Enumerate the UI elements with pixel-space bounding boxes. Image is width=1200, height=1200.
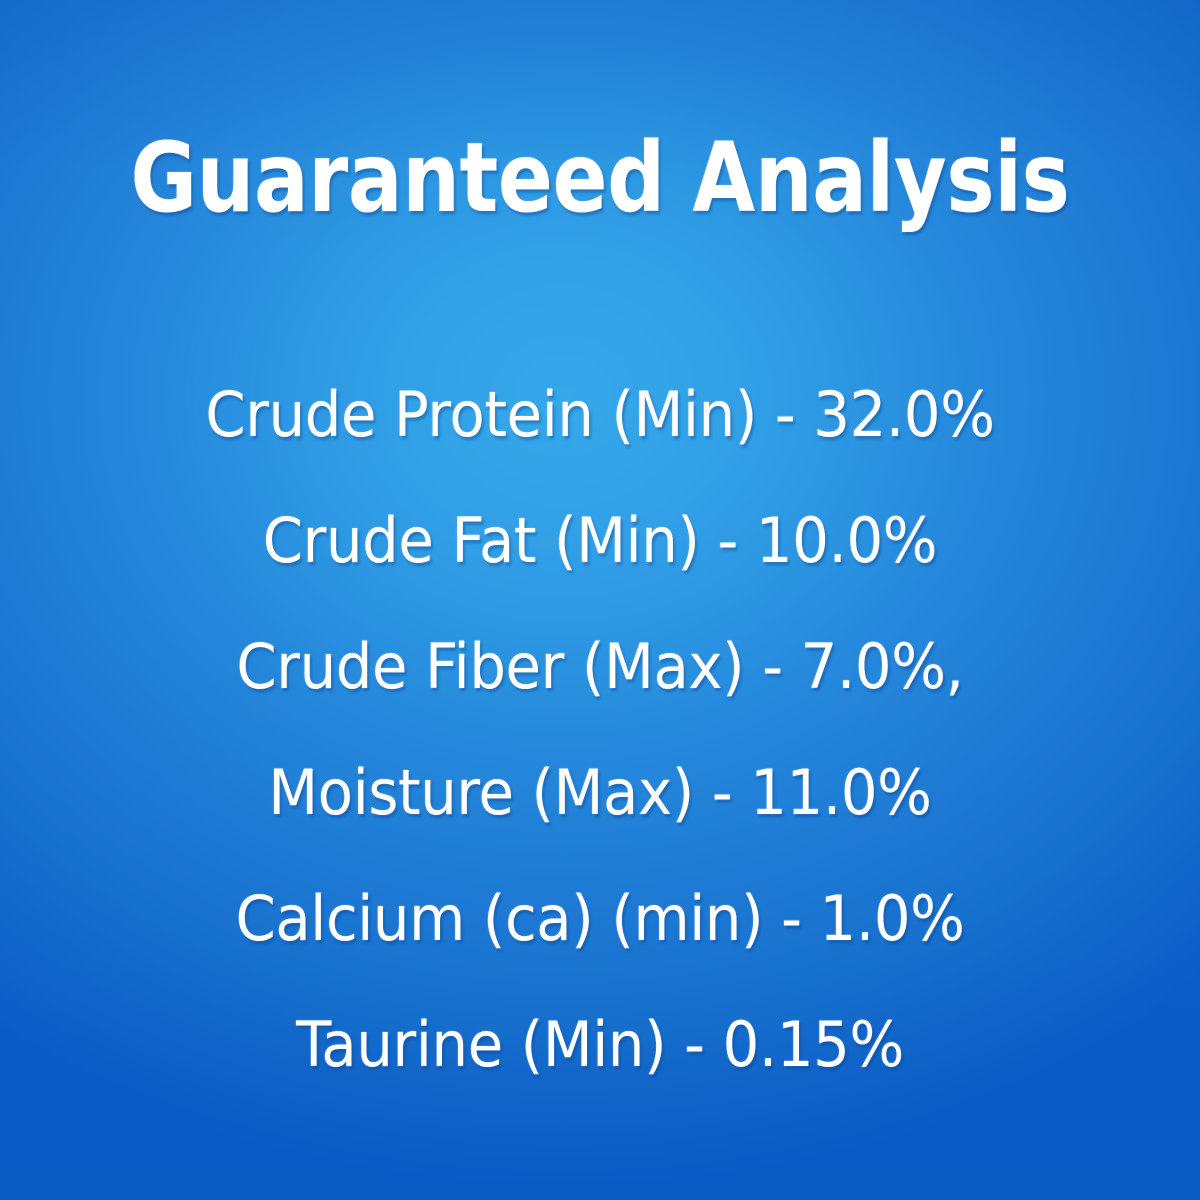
analysis-list: Crude Protein (Min) - 32.0% Crude Fat (M… — [0, 352, 1200, 1108]
list-item: Crude Fat (Min) - 10.0% — [42, 478, 1158, 604]
guaranteed-analysis-panel: Guaranteed Analysis Crude Protein (Min) … — [0, 0, 1200, 1200]
list-item: Calcium (ca) (min) - 1.0% — [42, 856, 1158, 982]
list-item: Crude Protein (Min) - 32.0% — [42, 352, 1158, 478]
page-title: Guaranteed Analysis — [93, 126, 1107, 230]
list-item: Moisture (Max) - 11.0% — [42, 730, 1158, 856]
list-item: Taurine (Min) - 0.15% — [42, 982, 1158, 1108]
panel-content: Guaranteed Analysis Crude Protein (Min) … — [0, 0, 1200, 1200]
list-item: Crude Fiber (Max) - 7.0%, — [42, 604, 1158, 730]
